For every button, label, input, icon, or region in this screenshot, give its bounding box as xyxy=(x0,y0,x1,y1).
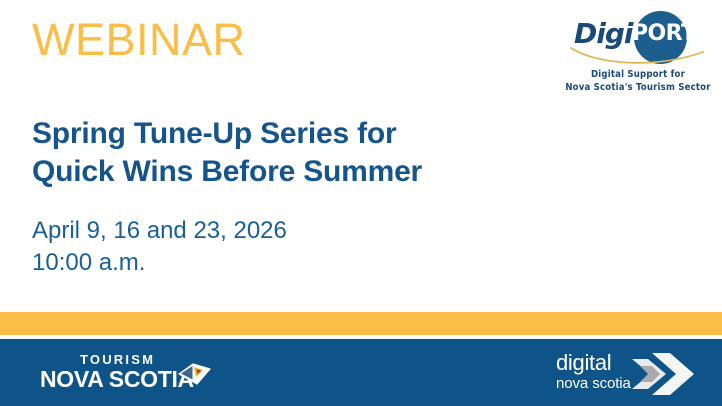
chevron-right-icon xyxy=(632,353,694,395)
eyebrow-label: WEBINAR xyxy=(32,16,246,64)
gold-divider-band xyxy=(0,312,722,335)
event-datetime: April 9, 16 and 23, 2026 10:00 a.m. xyxy=(32,215,287,279)
digital-nova-scotia-logo: digital nova scotia xyxy=(556,352,696,396)
event-time: 10:00 a.m. xyxy=(32,247,287,279)
digiport-tagline: Digital Support for Nova Scotia's Touris… xyxy=(563,68,713,95)
headline-line-1: Spring Tune-Up Series for xyxy=(32,115,532,153)
headline-line-2: Quick Wins Before Summer xyxy=(32,153,532,191)
tourism-nova-scotia-logo: TOURISM NOVA SCOTIA xyxy=(40,353,225,395)
tourism-logo-line-1: TOURISM xyxy=(80,353,155,366)
digiport-swoosh-icon xyxy=(563,42,713,68)
webinar-promo-poster: WEBINAR Spring Tune-Up Series for Quick … xyxy=(0,0,722,406)
digiport-tagline-line-2: Nova Scotia's Tourism Sector xyxy=(563,81,713,94)
digital-ns-line-2: nova scotia xyxy=(556,376,631,391)
event-date: April 9, 16 and 23, 2026 xyxy=(32,215,287,247)
digital-ns-line-1: digital xyxy=(556,352,611,374)
nova-scotia-flag-icon xyxy=(177,361,211,387)
tourism-logo-line-2: NOVA SCOTIA xyxy=(40,368,194,391)
page-title: Spring Tune-Up Series for Quick Wins Bef… xyxy=(32,115,532,191)
digiport-tagline-line-1: Digital Support for xyxy=(563,68,713,81)
digiport-wordmark: Digi PORT xyxy=(563,8,713,68)
digiport-logo: Digi PORT Digital Support for Nova Scoti… xyxy=(563,8,713,102)
